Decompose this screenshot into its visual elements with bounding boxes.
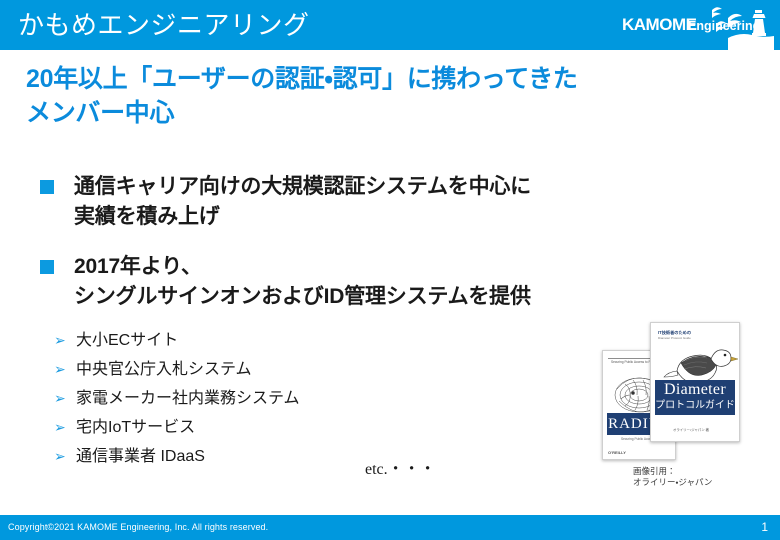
diameter-title-band: Diameter プロトコルガイド [655, 380, 735, 415]
company-name: かもめエンジニアリング [18, 7, 310, 43]
sub-item-list: ➢ 大小ECサイト ➢ 中央官公庁入札システム ➢ 家電メーカー社内業務システム… [54, 326, 484, 471]
diameter-footer-text: オライリー・ジャパン 著 [673, 428, 709, 433]
arrow-bullet-icon: ➢ [54, 442, 76, 471]
list-item: ➢ 家電メーカー社内業務システム [54, 384, 484, 413]
copyright-text: Copyright©2021 KAMOME Engineering, Inc. … [8, 520, 268, 534]
bullet-1-line1: 通信キャリア向けの大規模認証システムを中心に [74, 175, 531, 198]
bullet-2-line2: シングルサインオンおよびID管理システムを提供 [74, 285, 531, 308]
arrow-bullet-icon: ➢ [54, 355, 76, 384]
image-credit: 画像引用： オライリー・ジャパン [633, 466, 712, 488]
book-cover-diameter: IT技術者のための Diameter Protocol Guide [650, 322, 740, 442]
diameter-title: Diameter [655, 381, 735, 399]
bullet-item-2: 2017年より、 シングルサインオンおよびID管理システムを提供 [40, 252, 740, 312]
bullet-1-line2: 実績を積み上げ [74, 205, 220, 228]
page-title-line2: メンバー中心 [26, 96, 756, 130]
page-title: 20年以上「ユーザーの認証・認可」に携わってきた メンバー中心 [26, 62, 756, 130]
bullet-2-line1: 2017年より、 [74, 255, 202, 278]
bullet-1-text: 通信キャリア向けの大規模認証システムを中心に 実績を積み上げ [74, 172, 531, 232]
bullet-2-text: 2017年より、 シングルサインオンおよびID管理システムを提供 [74, 252, 531, 312]
wave-shape [728, 34, 774, 50]
book-cover-group: Securing Public Access to Private Resour… [600, 322, 755, 472]
arrow-bullet-icon: ➢ [54, 326, 76, 355]
diameter-cover-top-text: IT技術者のための [658, 330, 691, 335]
image-credit-line1: 画像引用： [633, 466, 712, 477]
square-bullet-icon [40, 260, 54, 274]
radius-publisher: O'REILLY [608, 450, 626, 455]
list-item: ➢ 大小ECサイト [54, 326, 484, 355]
list-item-label: 大小ECサイト [76, 326, 178, 355]
arrow-bullet-icon: ➢ [54, 384, 76, 413]
logo-sub: Engineering [688, 19, 760, 33]
square-bullet-icon [40, 180, 54, 194]
list-item: ➢ 中央官公庁入札システム [54, 355, 484, 384]
list-item-label: 中央官公庁入札システム [76, 355, 252, 384]
page-title-line1: 20年以上「ユーザーの認証・認可」に携わってきた [26, 62, 756, 96]
arrow-bullet-icon: ➢ [54, 413, 76, 442]
diameter-subtitle: プロトコルガイド [655, 399, 735, 412]
logo-brand: KAMOME [622, 15, 697, 34]
bullet-item-1: 通信キャリア向けの大規模認証システムを中心に 実績を積み上げ [40, 172, 740, 232]
etc-note: etc.・・・ [365, 455, 436, 479]
list-item-label: 家電メーカー社内業務システム [76, 384, 300, 413]
page-number: 1 [761, 518, 768, 536]
slide-canvas: かもめエンジニアリング KAMOME Engineering 20年 [0, 0, 780, 540]
list-item-label: 宅内IoTサービス [76, 413, 195, 442]
list-item: ➢ 宅内IoTサービス [54, 413, 484, 442]
kamome-logo: KAMOME Engineering [616, 0, 774, 50]
image-credit-line2: オライリー・ジャパン [633, 477, 712, 488]
list-item-label: 通信事業者 IDaaS [76, 442, 205, 471]
